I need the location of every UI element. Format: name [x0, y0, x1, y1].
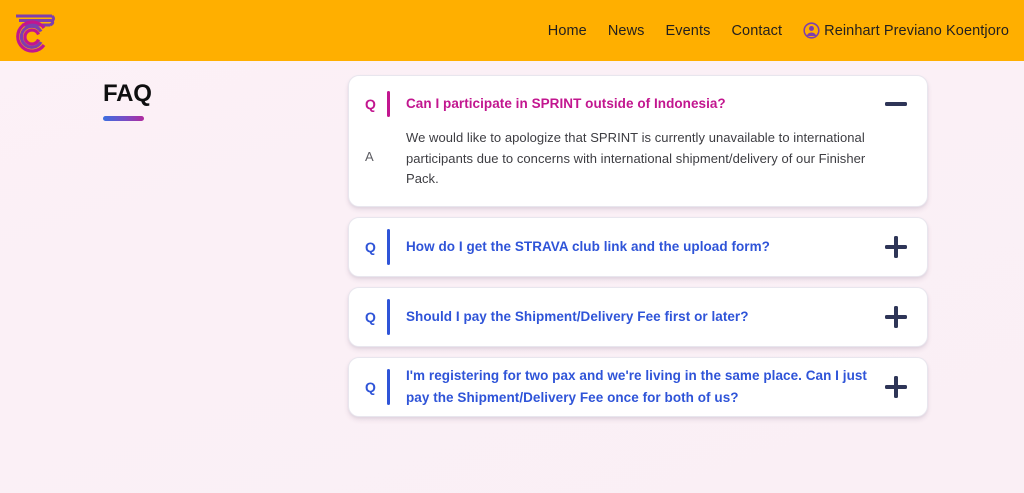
faq-question-row[interactable]: Q How do I get the STRAVA club link and … — [365, 218, 909, 276]
faq-question-row[interactable]: Q Should I pay the Shipment/Delivery Fee… — [365, 288, 909, 346]
page-body: FAQ Q Can I participate in SPRINT outsid… — [0, 61, 1024, 417]
plus-icon[interactable] — [883, 234, 909, 260]
faq-item[interactable]: Q How do I get the STRAVA club link and … — [348, 217, 928, 277]
title-underline-accent — [103, 116, 144, 121]
faq-question-text: Can I participate in SPRINT outside of I… — [406, 93, 883, 115]
faq-item[interactable]: Q Can I participate in SPRINT outside of… — [348, 75, 928, 207]
answer-marker: A — [365, 150, 387, 167]
plus-icon[interactable] — [883, 374, 909, 400]
nav-news[interactable]: News — [608, 23, 645, 39]
question-marker: Q — [365, 240, 387, 254]
site-header: Home News Events Contact Reinhart Previa… — [0, 0, 1024, 61]
page-title: FAQ — [103, 82, 348, 106]
faq-answer-text: We would like to apologize that SPRINT i… — [406, 128, 909, 190]
question-marker: Q — [365, 380, 387, 394]
question-divider — [387, 299, 390, 335]
plus-icon[interactable] — [883, 304, 909, 330]
user-menu[interactable]: Reinhart Previano Koentjoro — [803, 22, 1009, 39]
faq-item[interactable]: Q Should I pay the Shipment/Delivery Fee… — [348, 287, 928, 347]
faq-question-text: How do I get the STRAVA club link and th… — [406, 236, 883, 258]
faq-question-text: Should I pay the Shipment/Delivery Fee f… — [406, 306, 883, 328]
faq-question-text: I'm registering for two pax and we're li… — [406, 365, 883, 409]
question-marker: Q — [365, 310, 387, 324]
main-navigation: Home News Events Contact Reinhart Previa… — [548, 22, 1011, 39]
question-divider — [387, 91, 390, 117]
minus-icon[interactable] — [883, 91, 909, 117]
user-avatar-icon — [803, 22, 820, 39]
page-title-column: FAQ — [0, 75, 348, 417]
sprint-logo[interactable] — [8, 6, 60, 56]
faq-question-row[interactable]: Q Can I participate in SPRINT outside of… — [365, 76, 909, 128]
question-divider — [387, 369, 390, 405]
nav-contact[interactable]: Contact — [731, 23, 782, 39]
faq-item[interactable]: Q I'm registering for two pax and we're … — [348, 357, 928, 417]
user-name-label: Reinhart Previano Koentjoro — [824, 23, 1009, 39]
faq-answer-row: A We would like to apologize that SPRINT… — [365, 128, 909, 206]
answer-indent-spacer — [387, 128, 406, 190]
question-marker: Q — [365, 97, 387, 111]
faq-question-row[interactable]: Q I'm registering for two pax and we're … — [365, 358, 909, 416]
nav-events[interactable]: Events — [666, 23, 711, 39]
question-divider — [387, 229, 390, 265]
faq-list: Q Can I participate in SPRINT outside of… — [348, 75, 928, 417]
nav-home[interactable]: Home — [548, 23, 587, 39]
